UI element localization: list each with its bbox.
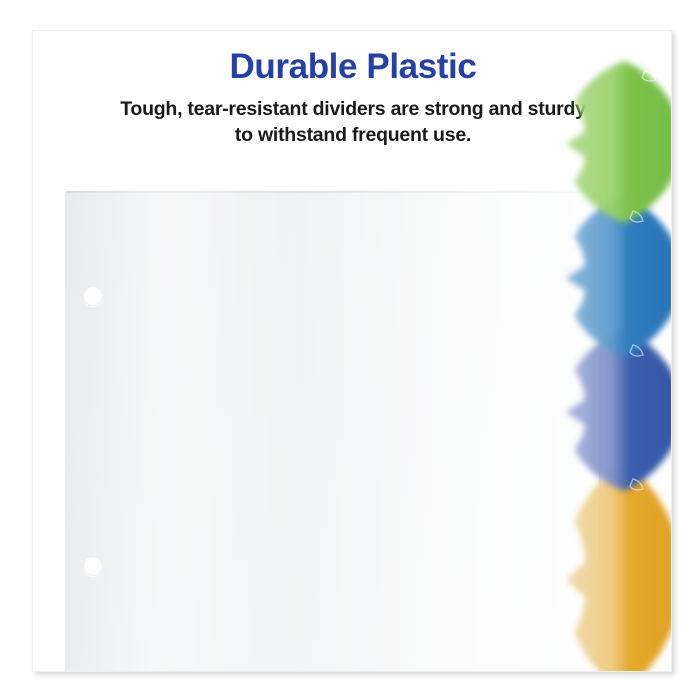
royal-blue-tab-highlight-arc (658, 343, 672, 483)
orange-tab-highlight-arc (658, 483, 672, 665)
sheet-right-edge (599, 191, 601, 672)
light-blue-tab-corner-mark (630, 345, 643, 356)
page-title: Durable Plastic (33, 49, 672, 84)
sheet-top-edge (65, 191, 601, 193)
product-image-card: Durable Plastic Tough, tear-resistant di… (32, 30, 672, 672)
royal-blue-tab-corner-mark (630, 479, 643, 490)
page-subtitle: Tough, tear-resistant dividers are stron… (33, 97, 672, 149)
punch-hole-bottom (83, 556, 103, 576)
green-tab-corner-mark (630, 211, 643, 222)
divider-sheet (65, 191, 601, 672)
light-blue-tab-highlight-arc (658, 209, 672, 349)
punch-hole-top (83, 286, 103, 306)
sheet-sheen (65, 191, 601, 672)
page-subtitle-line-2: to withstand frequent use. (33, 123, 672, 149)
headline-block: Durable Plastic Tough, tear-resistant di… (33, 49, 672, 149)
page-subtitle-line-1: Tough, tear-resistant dividers are stron… (33, 97, 672, 123)
